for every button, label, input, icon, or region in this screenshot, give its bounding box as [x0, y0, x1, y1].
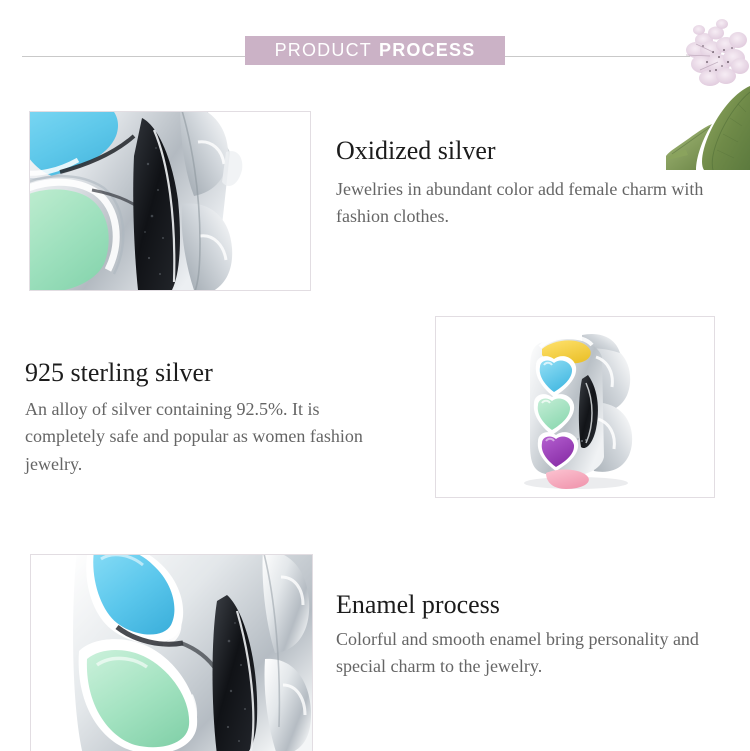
section-sterling-silver-text: 925 sterling silver An alloy of silver c…: [25, 358, 385, 478]
page-title-banner: PRODUCT PROCESS: [245, 36, 505, 65]
section-heading-1: Oxidized silver: [336, 136, 716, 166]
section-body-2: An alloy of silver containing 92.5%. It …: [25, 396, 385, 478]
page-title-light: PRODUCT: [275, 40, 372, 61]
section-heading-2: 925 sterling silver: [25, 358, 385, 388]
section-heading-3: Enamel process: [336, 590, 736, 620]
section-oxidized-silver-text: Oxidized silver Jewelries in abundant co…: [336, 136, 716, 231]
section-body-1: Jewelries in abundant color add female c…: [336, 176, 716, 231]
section-enamel-process-text: Enamel process Colorful and smooth ename…: [336, 590, 736, 681]
product-photo-oxidized-silver: [29, 111, 311, 291]
product-photo-heart-spacer-bead: [435, 316, 715, 498]
page-title-bold: PROCESS: [379, 40, 475, 61]
section-body-3: Colorful and smooth enamel bring persona…: [336, 626, 736, 681]
product-photo-enamel-process: [30, 554, 313, 751]
